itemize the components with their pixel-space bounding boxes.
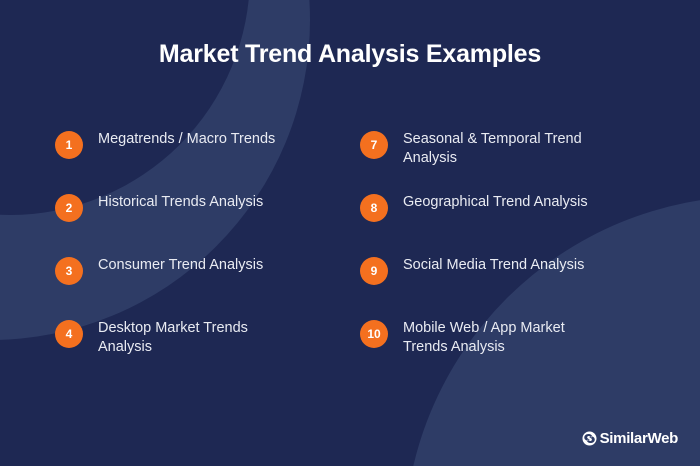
logo-text: SimilarWeb <box>600 431 678 446</box>
item-number-badge: 9 <box>360 257 388 285</box>
item-number-badge: 7 <box>360 131 388 159</box>
item-number-badge: 1 <box>55 131 83 159</box>
item-number-badge: 3 <box>55 257 83 285</box>
list-item[interactable]: 3 Consumer Trend Analysis <box>55 248 350 311</box>
item-number-badge: 8 <box>360 194 388 222</box>
items-columns: 1 Megatrends / Macro Trends 2 Historical… <box>0 122 700 374</box>
list-item[interactable]: 2 Historical Trends Analysis <box>55 185 350 248</box>
list-item[interactable]: 4 Desktop Market Trends Analysis <box>55 311 350 374</box>
infographic-canvas: Market Trend Analysis Examples 1 Megatre… <box>0 0 700 466</box>
similarweb-logo[interactable]: SimilarWeb <box>582 431 678 446</box>
item-number-badge: 2 <box>55 194 83 222</box>
item-label: Geographical Trend Analysis <box>403 193 588 212</box>
list-item[interactable]: 8 Geographical Trend Analysis <box>360 185 700 248</box>
list-item[interactable]: 7 Seasonal & Temporal Trend Analysis <box>360 122 700 185</box>
item-label: Megatrends / Macro Trends <box>98 130 275 149</box>
item-label: Historical Trends Analysis <box>98 193 263 212</box>
item-number-badge: 10 <box>360 320 388 348</box>
list-item[interactable]: 10 Mobile Web / App Market Trends Analys… <box>360 311 700 374</box>
item-label: Mobile Web / App Market Trends Analysis <box>403 319 603 357</box>
item-label: Social Media Trend Analysis <box>403 256 584 275</box>
similarweb-swirl-icon <box>582 431 597 446</box>
right-column: 7 Seasonal & Temporal Trend Analysis 8 G… <box>350 122 700 374</box>
item-label: Consumer Trend Analysis <box>98 256 263 275</box>
item-number-badge: 4 <box>55 320 83 348</box>
item-label: Desktop Market Trends Analysis <box>98 319 303 357</box>
list-item[interactable]: 9 Social Media Trend Analysis <box>360 248 700 311</box>
page-title: Market Trend Analysis Examples <box>0 40 700 69</box>
left-column: 1 Megatrends / Macro Trends 2 Historical… <box>0 122 350 374</box>
infographic-content: Market Trend Analysis Examples 1 Megatre… <box>0 0 700 466</box>
list-item[interactable]: 1 Megatrends / Macro Trends <box>55 122 350 185</box>
item-label: Seasonal & Temporal Trend Analysis <box>403 130 603 168</box>
